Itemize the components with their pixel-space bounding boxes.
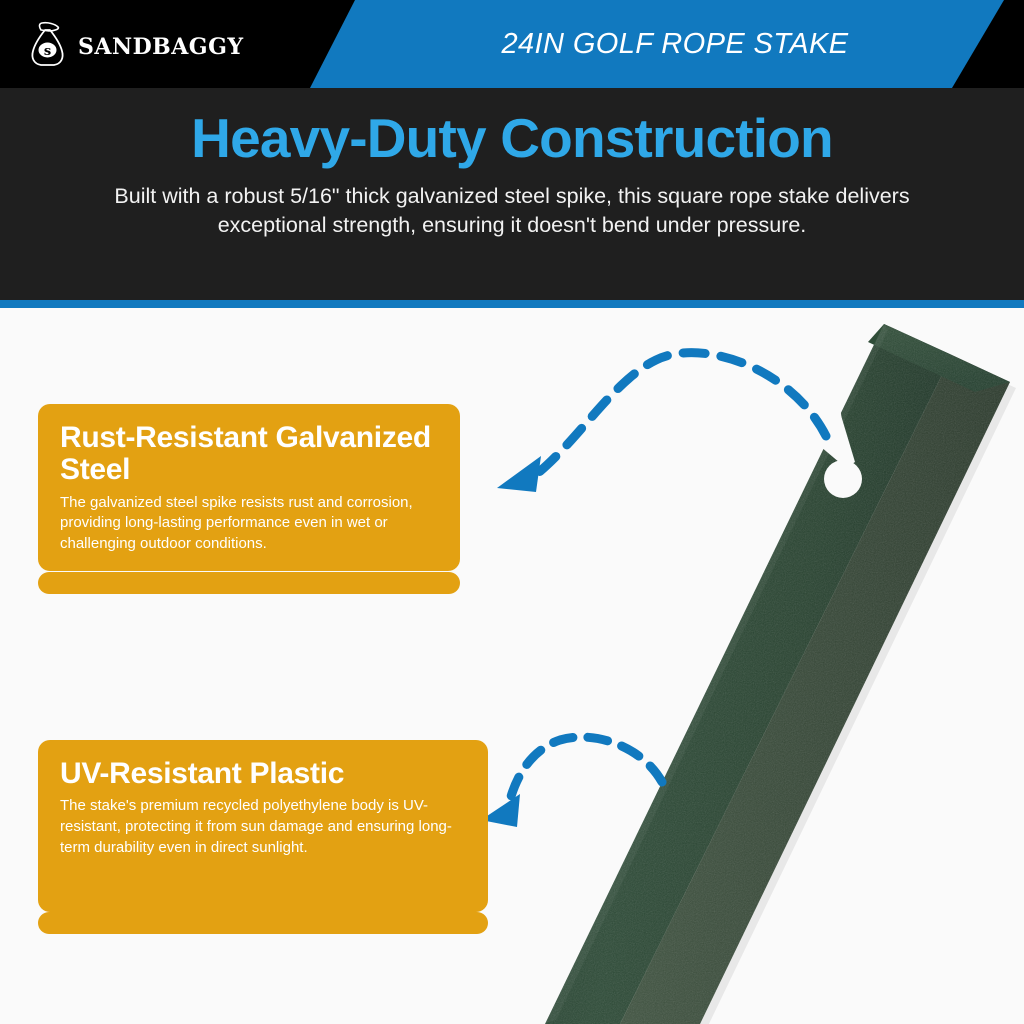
feature-card-title: UV-Resistant Plastic [60, 758, 466, 790]
infographic-page: s sandbaggy 24IN GOLF ROPE STAKE Heavy-D… [0, 0, 1024, 1024]
brand-name: sandbaggy [78, 29, 244, 60]
svg-text:s: s [44, 44, 51, 59]
feature-card-description: The galvanized steel spike resists rust … [60, 493, 438, 555]
accent-bar-1 [38, 572, 460, 594]
product-title: 24IN GOLF ROPE STAKE [430, 0, 920, 88]
sandbag-logo-icon: s [28, 21, 68, 67]
feature-card-description: The stake's premium recycled polyethylen… [60, 796, 466, 896]
brand-logo: s sandbaggy [28, 20, 244, 68]
banner-heading: Heavy-Duty Construction [0, 110, 1024, 168]
banner-subtext: Built with a robust 5/16" thick galvaniz… [82, 182, 942, 240]
arrow-to-plastic-callout [481, 737, 662, 827]
banner-blue-rule [0, 300, 1024, 308]
feature-card-rust-resistant[interactable]: Rust-Resistant Galvanized Steel The galv… [38, 404, 460, 571]
feature-card-title: Rust-Resistant Galvanized Steel [60, 422, 438, 487]
page-header: s sandbaggy 24IN GOLF ROPE STAKE [0, 0, 1024, 88]
content-area: Rust-Resistant Galvanized Steel The galv… [0, 308, 1024, 1024]
feature-card-uv-resistant[interactable]: UV-Resistant Plastic The stake's premium… [38, 740, 488, 912]
accent-bar-2 [38, 912, 488, 934]
hero-banner: Heavy-Duty Construction Built with a rob… [0, 88, 1024, 300]
arrow-to-steel-callout [497, 353, 826, 492]
